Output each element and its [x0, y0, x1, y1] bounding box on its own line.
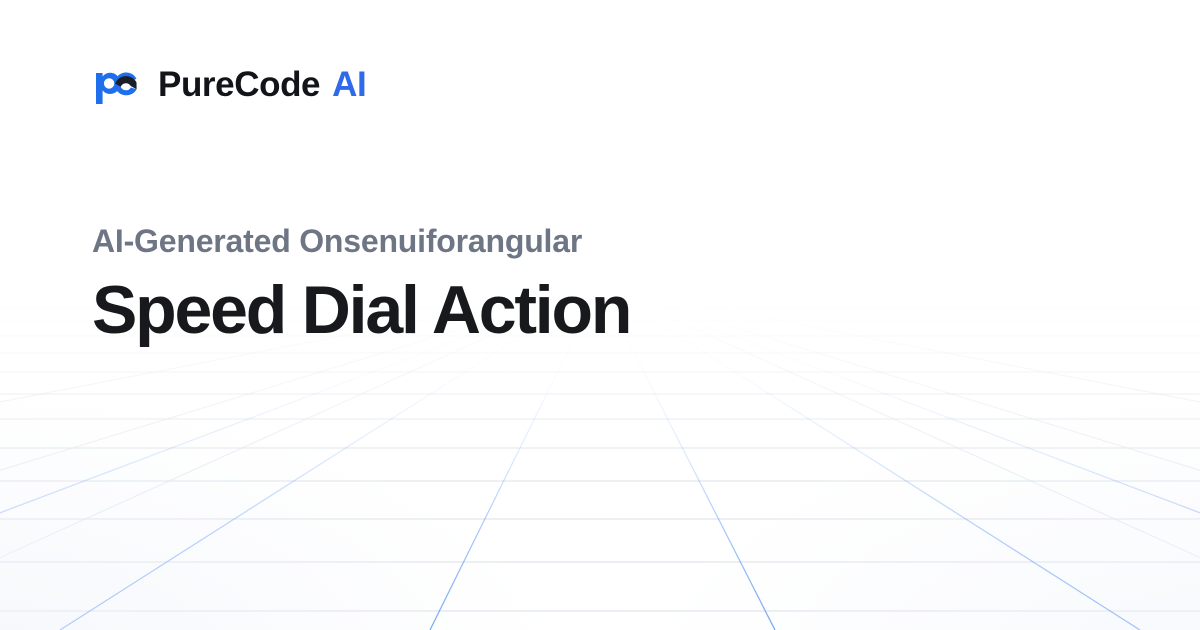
- card-content: PureCode AI AI-Generated Onsenuiforangul…: [0, 0, 1200, 630]
- hero-eyebrow: AI-Generated Onsenuiforangular: [92, 222, 1092, 260]
- brand-name-primary: PureCode: [158, 67, 320, 102]
- purecode-pc-monogram-icon: [92, 60, 140, 108]
- brand-lockup: PureCode AI: [92, 60, 366, 108]
- page-title: Speed Dial Action: [92, 274, 1092, 347]
- og-card: PureCode AI AI-Generated Onsenuiforangul…: [0, 0, 1200, 630]
- brand-wordmark: PureCode AI: [158, 67, 366, 102]
- hero-text-block: AI-Generated Onsenuiforangular Speed Dia…: [92, 222, 1092, 348]
- brand-name-accent: AI: [332, 67, 366, 102]
